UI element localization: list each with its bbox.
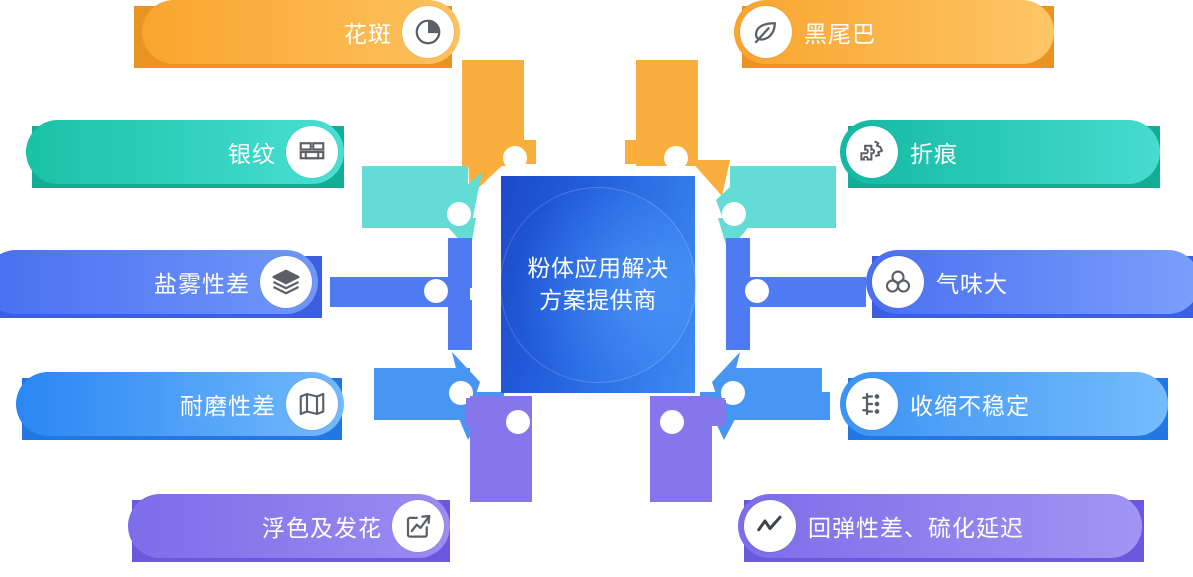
trending-up-box-icon: [392, 500, 444, 552]
connector-huitanxingcha: [650, 396, 726, 502]
connector-shousuobuwending: [700, 352, 830, 440]
node-label-yanwuxingcha: 盐雾性差: [154, 265, 250, 299]
node-huitanxingcha[interactable]: 回弹性差、硫化延迟: [738, 494, 1142, 558]
node-label-shousuobuwending: 收缩不稳定: [910, 387, 1030, 421]
center-node[interactable]: 粉体应用解决 方案提供商: [501, 176, 695, 393]
node-label-huitanxingcha: 回弹性差、硫化延迟: [808, 509, 1024, 543]
center-label: 粉体应用解决 方案提供商: [528, 253, 669, 315]
brick-wall-icon: [286, 126, 338, 178]
node-naimoxingcha[interactable]: 耐磨性差: [16, 372, 344, 436]
node-label-huaban: 花斑: [344, 15, 392, 49]
recycle-icon: [872, 256, 924, 308]
node-label-qiweida: 气味大: [936, 265, 1008, 299]
node-heiweiba[interactable]: 黑尾巴: [734, 0, 1054, 64]
node-shousuobuwending[interactable]: 收缩不稳定: [840, 372, 1168, 436]
node-label-fusejifahua: 浮色及发花: [262, 509, 382, 543]
connector-yanwuxingcha: [330, 238, 472, 350]
node-zhehen[interactable]: 折痕: [840, 120, 1160, 184]
node-fusejifahua[interactable]: 浮色及发花: [128, 494, 450, 558]
connector-qiweida: [726, 238, 866, 350]
layers-icon: [260, 256, 312, 308]
node-yanwuxingcha[interactable]: 盐雾性差: [0, 250, 318, 314]
line-chart-icon: [744, 500, 796, 552]
node-label-yinwen: 银纹: [228, 135, 276, 169]
node-label-zhehen: 折痕: [910, 135, 958, 169]
node-yinwen[interactable]: 银纹: [26, 120, 344, 184]
node-label-heiweiba: 黑尾巴: [804, 15, 876, 49]
pie-chart-icon: [402, 6, 454, 58]
connector-fusejifahua: [466, 396, 532, 502]
node-huaban[interactable]: 花斑: [142, 0, 460, 64]
node-qiweida[interactable]: 气味大: [866, 250, 1193, 314]
leaf-icon: [740, 6, 792, 58]
node-label-naimoxingcha: 耐磨性差: [180, 387, 276, 421]
map-icon: [286, 378, 338, 430]
sitemap-icon: [846, 378, 898, 430]
diagram-canvas: 粉体应用解决 方案提供商 花斑 黑尾巴 银纹: [0, 0, 1193, 577]
puzzle-piece-icon: [846, 126, 898, 178]
